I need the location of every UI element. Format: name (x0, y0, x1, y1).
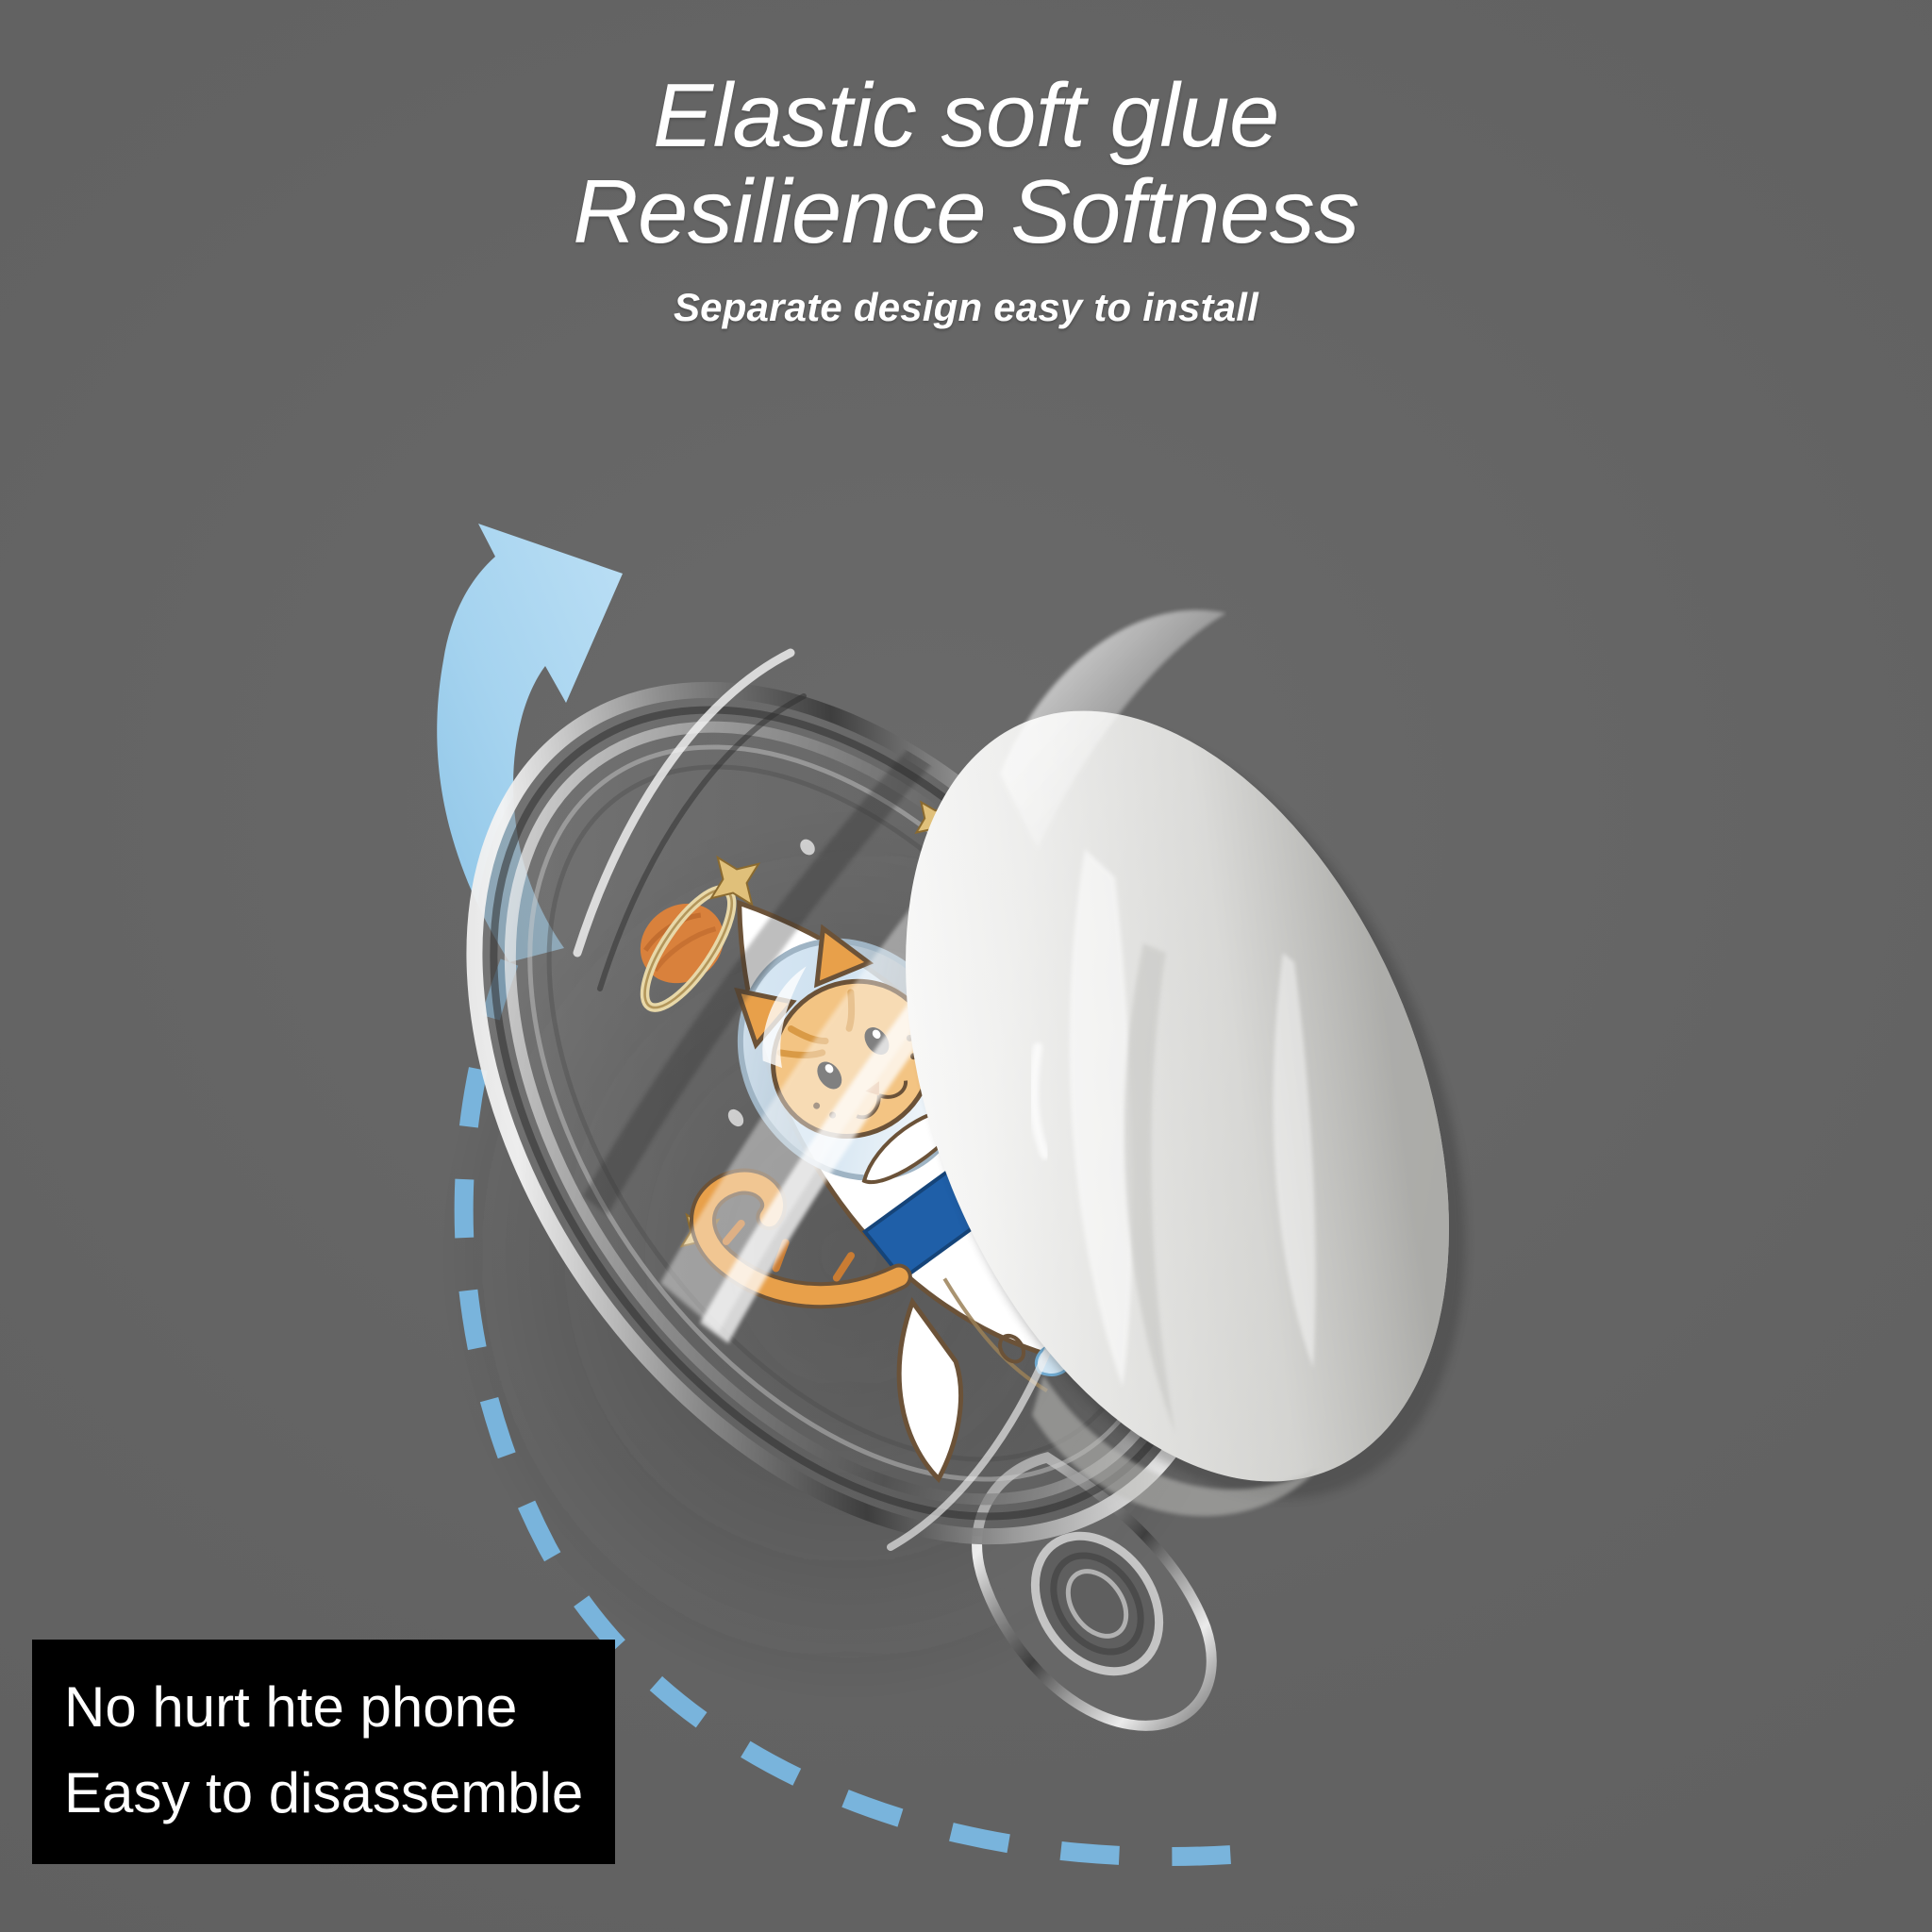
caption-line-1: No hurt hte phone (64, 1664, 583, 1750)
headline-line-2: Resilience Softness (0, 164, 1932, 260)
headline-block: Elastic soft glue Resilience Softness Se… (0, 68, 1932, 330)
headline-subtitle: Separate design easy to install (0, 285, 1932, 330)
feature-caption-box: No hurt hte phone Easy to disassemble (32, 1640, 615, 1864)
headline-line-1: Elastic soft glue (0, 68, 1932, 164)
product-marketing-image: Elastic soft glue Resilience Softness Se… (0, 0, 1932, 1932)
caption-line-2: Easy to disassemble (64, 1750, 583, 1836)
